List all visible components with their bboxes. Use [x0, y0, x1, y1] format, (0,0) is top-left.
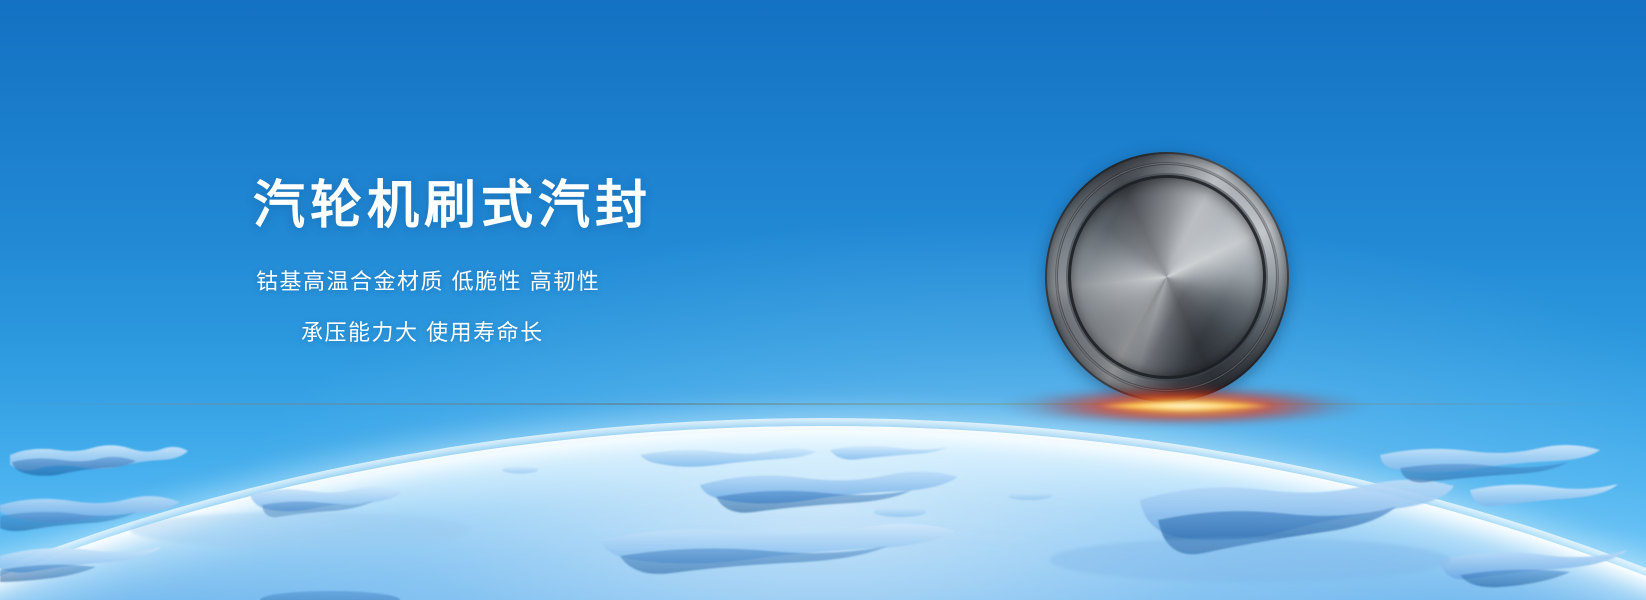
banner-copy: 汽轮机刷式汽封 钴基高温合金材质 低脆性 高韧性 承压能力大 使用寿命长 [253, 176, 953, 345]
banner-subtitle-line-1: 钴基高温合金材质 低脆性 高韧性 [256, 270, 953, 294]
banner-headline: 汽轮机刷式汽封 [253, 176, 953, 236]
banner-subtitle-line-2: 承压能力大 使用寿命长 [301, 321, 953, 345]
brush-seal-ring [1045, 152, 1289, 402]
ring-inner-bore [1071, 178, 1263, 376]
globe-sphere [0, 430, 1646, 600]
hero-banner: 汽轮机刷式汽封 钴基高温合金材质 低脆性 高韧性 承压能力大 使用寿命长 [0, 0, 1646, 600]
